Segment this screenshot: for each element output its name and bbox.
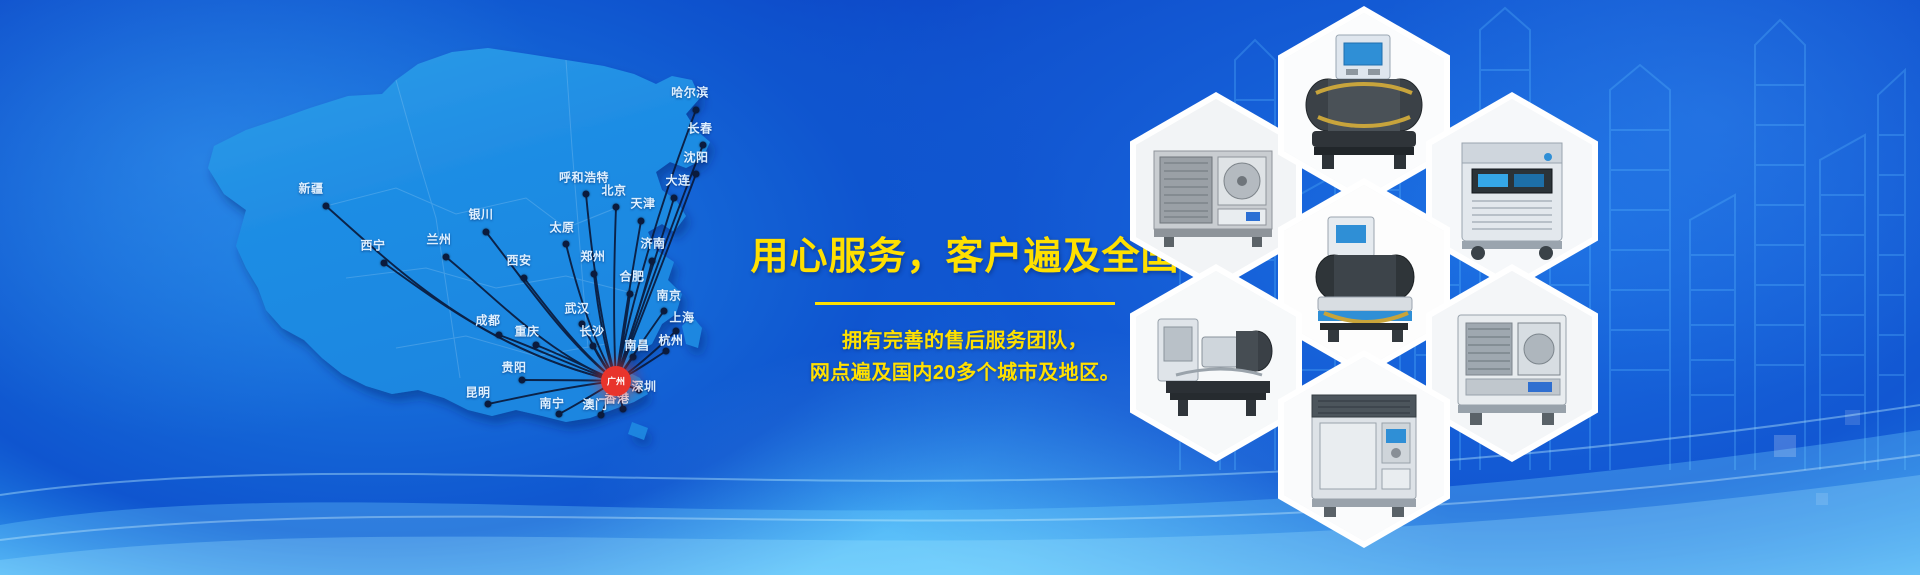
city-label-kunming: 昆明: [465, 384, 490, 401]
city-dot: [649, 258, 656, 265]
city-dot: [663, 348, 670, 355]
product-hex-air-cooled-box-chiller[interactable]: [1426, 264, 1598, 462]
city-dot: [519, 377, 526, 384]
product-photo-collage: [1130, 0, 1770, 530]
decor-square-3: [1816, 493, 1828, 505]
city-dot: [627, 291, 634, 298]
city-label-chengdu: 成都: [475, 312, 500, 329]
city-dot: [483, 229, 490, 236]
product-hex-air-cooled-condensing-unit[interactable]: [1130, 92, 1302, 290]
city-label-zhengzhou: 郑州: [580, 248, 605, 265]
city-label-dalian: 大连: [665, 172, 690, 189]
city-label-nanjing: 南京: [656, 287, 681, 304]
promo-banner: 新疆 哈尔滨 长春 沈阳 呼和浩特 北京 大连 天津 银川 太原 兰州 西宁 郑…: [0, 0, 1920, 575]
city-dot: [323, 203, 330, 210]
city-label-beijing: 北京: [601, 182, 626, 199]
city-dot: [620, 406, 627, 413]
headline-divider: [815, 302, 1115, 305]
city-label-shenyang: 沈阳: [683, 149, 708, 166]
product-hex-portable-box-chiller[interactable]: [1426, 92, 1598, 290]
banner-subtitle-line-1: 拥有完善的售后服务团队，: [750, 325, 1180, 357]
city-dot: [591, 271, 598, 278]
product-hex-water-cooled-screw-chiller[interactable]: [1278, 6, 1450, 204]
city-label-xining: 西宁: [360, 237, 385, 254]
city-label-yinchuan: 银川: [468, 206, 493, 223]
city-dot: [638, 218, 645, 225]
city-dot: [496, 332, 503, 339]
city-dot: [381, 260, 388, 267]
city-dot: [485, 401, 492, 408]
banner-copy: 用心服务，客户遍及全国 拥有完善的售后服务团队， 网点遍及国内20多个城市及地区…: [750, 236, 1180, 389]
city-label-changchun: 长春: [687, 120, 712, 137]
city-label-haerbin: 哈尔滨: [671, 84, 709, 101]
city-label-tianjin: 天津: [630, 195, 655, 212]
banner-headline: 用心服务，客户遍及全国: [750, 236, 1180, 280]
city-dot: [693, 107, 700, 114]
city-dot: [693, 171, 700, 178]
product-hex-water-cooled-chiller-unit[interactable]: [1278, 178, 1450, 376]
city-dot: [598, 412, 605, 419]
hub-label: 广州: [607, 375, 625, 388]
city-dot: [671, 195, 678, 202]
city-label-hefei: 合肥: [619, 268, 644, 285]
city-dot: [521, 275, 528, 282]
decor-square-2: [1845, 410, 1860, 425]
city-label-wuhan: 武汉: [564, 300, 589, 317]
city-label-guiyang: 贵阳: [501, 359, 526, 376]
city-label-jinan: 济南: [640, 235, 665, 252]
city-label-xian: 西安: [506, 252, 531, 269]
city-dot: [613, 204, 620, 211]
banner-subtitle-line-2: 网点遍及国内20多个城市及地区。: [750, 357, 1180, 389]
city-label-changsha: 长沙: [579, 323, 604, 340]
city-dot: [563, 241, 570, 248]
city-label-lanzhou: 兰州: [426, 231, 451, 248]
city-label-taiyuan: 太原: [549, 219, 574, 236]
city-dot: [583, 191, 590, 198]
city-label-xinjiang: 新疆: [298, 180, 323, 197]
decor-square-1: [1774, 435, 1796, 457]
city-dot: [590, 343, 597, 350]
city-label-shanghai: 上海: [669, 309, 694, 326]
product-hex-open-frame-compressor-unit[interactable]: [1130, 264, 1302, 462]
headquarters-hub-marker: 广州: [595, 366, 637, 396]
city-dot: [533, 342, 540, 349]
city-label-hangzhou: 杭州: [658, 332, 683, 349]
city-dot: [630, 354, 637, 361]
city-label-nanning: 南宁: [539, 395, 564, 412]
product-hex-industrial-cabinet-chiller[interactable]: [1278, 350, 1450, 548]
city-dot: [443, 254, 450, 261]
city-label-nanchang: 南昌: [624, 337, 649, 354]
city-label-chongqing: 重庆: [514, 323, 539, 340]
china-distribution-map: 新疆 哈尔滨 长春 沈阳 呼和浩特 北京 大连 天津 银川 太原 兰州 西宁 郑…: [96, 18, 756, 518]
city-dot: [700, 142, 707, 149]
city-dot: [661, 308, 668, 315]
city-dot: [556, 411, 563, 418]
